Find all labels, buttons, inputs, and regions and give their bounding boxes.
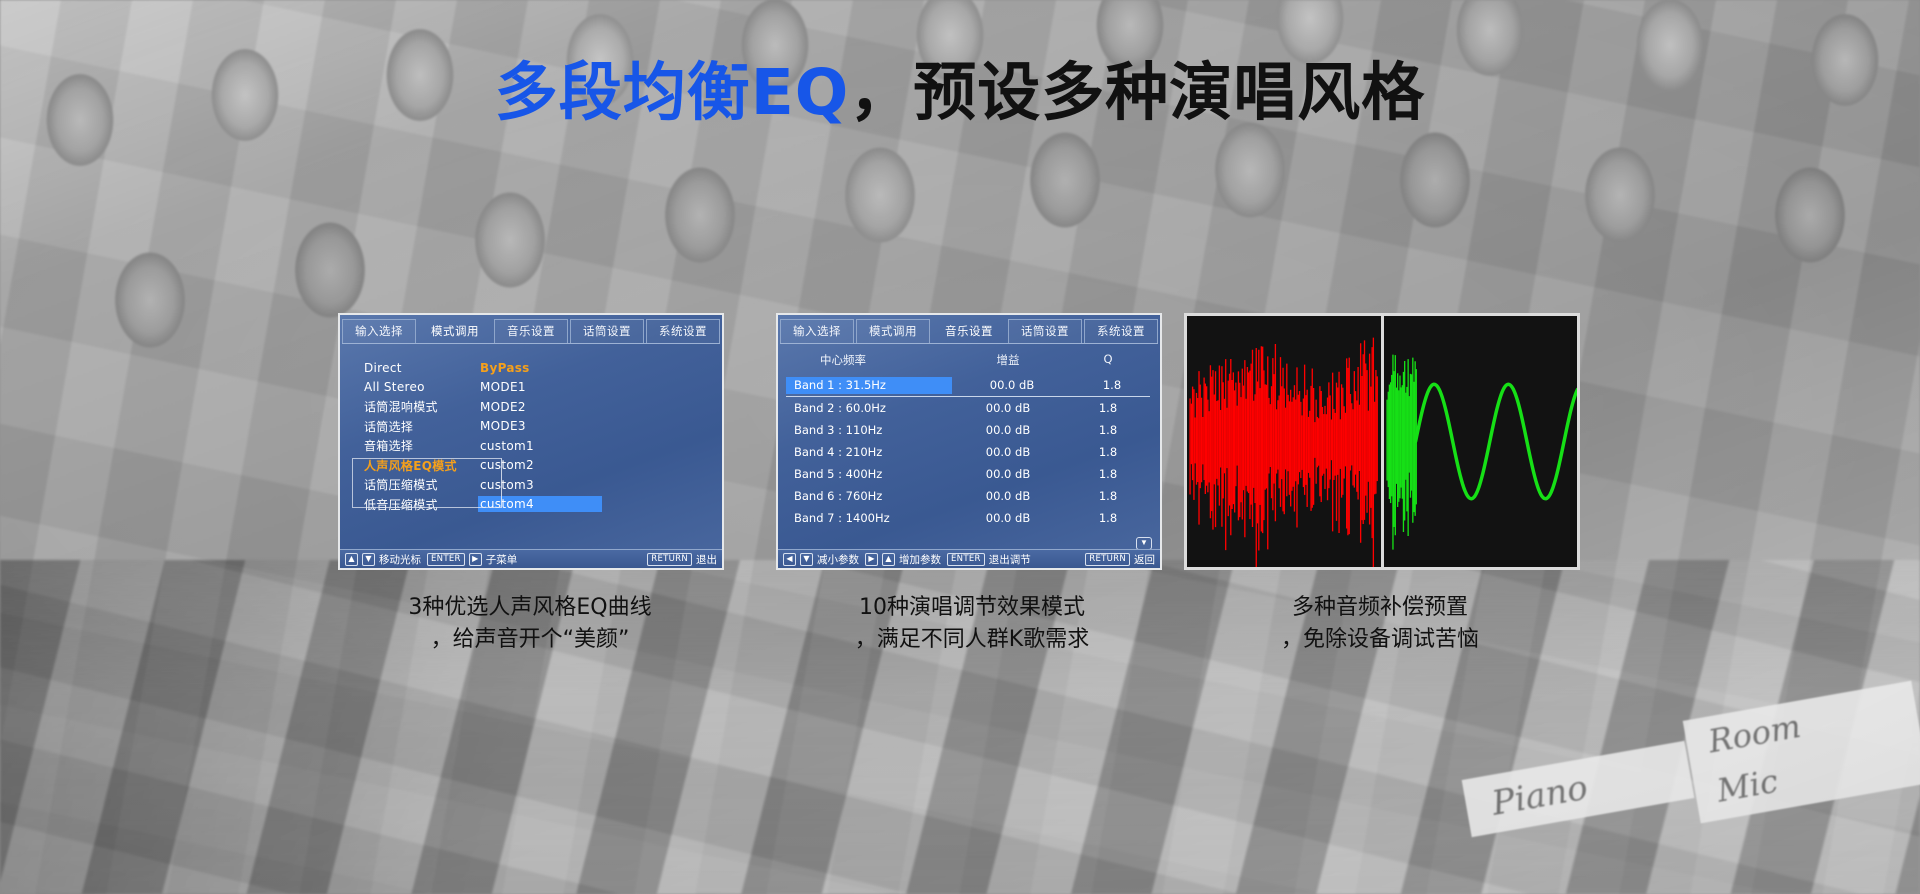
up-arrow-key: ▲ bbox=[882, 553, 895, 566]
hint-label: 增加参数 bbox=[899, 552, 941, 567]
music-settings-tab-2[interactable]: 音乐设置 bbox=[932, 319, 1006, 343]
eq-band-row[interactable]: Band 2 : 60.0Hz00.0 dB1.8 bbox=[778, 397, 1160, 419]
lcd-panel-music-settings: 输入选择模式调用音乐设置话筒设置系统设置 中心频率 增益 Q Band 1 : … bbox=[776, 313, 1162, 570]
up-arrow-key: ▲ bbox=[345, 553, 358, 566]
eq-band-q: 1.8 bbox=[1068, 511, 1148, 525]
mode-row[interactable]: 话筒选择MODE3 bbox=[340, 417, 722, 437]
eq-band-table: 中心频率 增益 Q Band 1 : 31.5Hz00.0 dB1.8Band … bbox=[778, 344, 1160, 554]
tab-label: 输入选择 bbox=[793, 324, 841, 338]
mode-row-value-selected[interactable]: custom4 bbox=[478, 496, 602, 512]
panels-row: 输入选择模式调用音乐设置话筒设置系统设置 DirectByPassAll Ste… bbox=[0, 313, 1920, 573]
music-settings-tab-4[interactable]: 系统设置 bbox=[1084, 319, 1158, 343]
mode-row[interactable]: 人声风格EQ模式custom2 bbox=[340, 456, 722, 476]
mode-row-label: 人声风格EQ模式 bbox=[340, 457, 480, 474]
tabbar-music-settings: 输入选择模式调用音乐设置话筒设置系统设置 bbox=[778, 315, 1160, 343]
music-settings-tab-3[interactable]: 话筒设置 bbox=[1008, 319, 1082, 343]
eq-header-gain: 增益 bbox=[948, 352, 1068, 368]
eq-band-q: 1.8 bbox=[1068, 423, 1148, 437]
caption-3: 多种音频补偿预置 ，免除设备调试苦恼 bbox=[1150, 592, 1610, 656]
page-title-rest: ，预设多种演唱风格 bbox=[849, 56, 1425, 129]
eq-band-gain: 00.0 dB bbox=[948, 511, 1068, 525]
tab-label: 输入选择 bbox=[355, 324, 403, 338]
tab-label: 音乐设置 bbox=[507, 324, 555, 338]
slide-root: Piano RoomMic 多段均衡EQ，预设多种演唱风格 输入选择模式调用音乐… bbox=[0, 0, 1920, 894]
enter-key: ENTER bbox=[427, 553, 465, 566]
eq-band-row[interactable]: Band 1 : 31.5Hz00.0 dB1.8 bbox=[778, 374, 1160, 396]
hint-item: ▲▼移动光标 bbox=[345, 552, 421, 567]
mode-row-value[interactable]: custom3 bbox=[480, 478, 630, 492]
mode-row[interactable]: 话筒混响模式MODE2 bbox=[340, 397, 722, 417]
tab-label: 音乐设置 bbox=[945, 324, 993, 338]
eq-band-frequency: Band 2 : 60.0Hz bbox=[778, 401, 948, 415]
eq-band-row[interactable]: Band 6 : 760Hz00.0 dB1.8 bbox=[778, 485, 1160, 507]
hint-label: 移动光标 bbox=[379, 552, 421, 567]
mode-row[interactable]: All StereoMODE1 bbox=[340, 378, 722, 398]
eq-rows-container: Band 1 : 31.5Hz00.0 dB1.8Band 2 : 60.0Hz… bbox=[778, 374, 1160, 529]
eq-band-frequency: Band 4 : 210Hz bbox=[778, 445, 948, 459]
eq-band-row[interactable]: Band 7 : 1400Hz00.0 dB1.8 bbox=[778, 507, 1160, 529]
mode-row-label: 音箱选择 bbox=[340, 437, 480, 454]
hint-label: 退出调节 bbox=[989, 552, 1031, 567]
mode-row-label: 话筒压缩模式 bbox=[340, 476, 480, 493]
eq-band-gain: 00.0 dB bbox=[948, 467, 1068, 481]
eq-band-q: 1.8 bbox=[1068, 445, 1148, 459]
tabbar-mode-recall: 输入选择模式调用音乐设置话筒设置系统设置 bbox=[340, 315, 722, 343]
mode-row-value[interactable]: MODE1 bbox=[480, 380, 630, 394]
hintbar-music-settings: ◀▼减小参数▶▲增加参数ENTER退出调节RETURN返回 bbox=[778, 549, 1160, 568]
tab-label: 系统设置 bbox=[1097, 324, 1145, 338]
mode-row-value[interactable]: custom1 bbox=[480, 439, 630, 453]
mode-recall-tab-0[interactable]: 输入选择 bbox=[342, 319, 416, 343]
eq-band-gain: 00.0 dB bbox=[948, 401, 1068, 415]
return-key: RETURN bbox=[1085, 553, 1130, 566]
mode-recall-tab-4[interactable]: 系统设置 bbox=[646, 319, 720, 343]
mode-row[interactable]: 低音压缩模式custom4 bbox=[340, 495, 722, 515]
hint-item: ▶▲增加参数 bbox=[865, 552, 941, 567]
eq-band-row[interactable]: Band 3 : 110Hz00.0 dB1.8 bbox=[778, 419, 1160, 441]
eq-band-gain: 00.0 dB bbox=[952, 378, 1072, 392]
eq-band-q: 1.8 bbox=[1068, 489, 1148, 503]
mode-row-value[interactable]: MODE3 bbox=[480, 419, 630, 433]
sine-waveform-green bbox=[1381, 316, 1578, 567]
eq-band-frequency: Band 1 : 31.5Hz bbox=[786, 377, 952, 394]
caption-2: 10种演唱调节效果模式 ，满足不同人群K歌需求 bbox=[742, 592, 1202, 656]
tab-label: 模式调用 bbox=[431, 324, 479, 338]
eq-band-row[interactable]: Band 4 : 210Hz00.0 dB1.8 bbox=[778, 441, 1160, 463]
mode-row-label: 低音压缩模式 bbox=[340, 496, 480, 513]
eq-header-q: Q bbox=[1068, 352, 1148, 368]
mode-row-value[interactable]: custom2 bbox=[480, 458, 630, 472]
tab-label: 系统设置 bbox=[659, 324, 707, 338]
eq-band-gain: 00.0 dB bbox=[948, 489, 1068, 503]
eq-band-frequency: Band 7 : 1400Hz bbox=[778, 511, 948, 525]
right-arrow-key: ▶ bbox=[865, 553, 878, 566]
hint-item: RETURN退出 bbox=[647, 552, 717, 567]
enter-key: ENTER bbox=[947, 553, 985, 566]
hint-label: 退出 bbox=[696, 552, 717, 567]
mode-row[interactable]: 话筒压缩模式custom3 bbox=[340, 475, 722, 495]
eq-band-gain: 00.0 dB bbox=[948, 445, 1068, 459]
hintbar-mode-recall: ▲▼移动光标ENTER▶子菜单RETURN退出 bbox=[340, 549, 722, 568]
page-title-highlight: 多段均衡EQ bbox=[495, 56, 850, 129]
eq-band-frequency: Band 3 : 110Hz bbox=[778, 423, 948, 437]
mode-recall-tab-2[interactable]: 音乐设置 bbox=[494, 319, 568, 343]
eq-band-frequency: Band 6 : 760Hz bbox=[778, 489, 948, 503]
caption-1: 3种优选人声风格EQ曲线 ，给声音开个“美颜” bbox=[300, 592, 760, 656]
return-key: RETURN bbox=[647, 553, 692, 566]
eq-band-row[interactable]: Band 5 : 400Hz00.0 dB1.8 bbox=[778, 463, 1160, 485]
noise-waveform-red bbox=[1187, 316, 1381, 567]
hint-item: RETURN返回 bbox=[1085, 552, 1155, 567]
mode-row-label: 话筒选择 bbox=[340, 418, 480, 435]
mode-row-label: All Stereo bbox=[340, 380, 480, 394]
music-settings-tab-1[interactable]: 模式调用 bbox=[856, 319, 930, 343]
eq-band-gain: 00.0 dB bbox=[948, 423, 1068, 437]
left-arrow-key: ◀ bbox=[783, 553, 796, 566]
hint-label: 返回 bbox=[1134, 552, 1155, 567]
down-arrow-key: ▼ bbox=[362, 553, 375, 566]
tab-label: 话筒设置 bbox=[583, 324, 631, 338]
tab-label: 话筒设置 bbox=[1021, 324, 1069, 338]
mode-row[interactable]: 音箱选择custom1 bbox=[340, 436, 722, 456]
eq-band-frequency: Band 5 : 400Hz bbox=[778, 467, 948, 481]
eq-table-header: 中心频率 增益 Q bbox=[778, 352, 1160, 374]
hint-item: ENTER退出调节 bbox=[947, 552, 1031, 567]
eq-band-q: 1.8 bbox=[1068, 467, 1148, 481]
waveform-display-panel bbox=[1184, 313, 1580, 570]
hint-label: 减小参数 bbox=[817, 552, 859, 567]
mode-recall-tab-1[interactable]: 模式调用 bbox=[418, 319, 492, 343]
tab-label: 模式调用 bbox=[869, 324, 917, 338]
mode-row-value[interactable]: MODE2 bbox=[480, 400, 630, 414]
down-arrow-key: ▼ bbox=[800, 553, 813, 566]
mode-recall-tab-3[interactable]: 话筒设置 bbox=[570, 319, 644, 343]
eq-band-q: 1.8 bbox=[1068, 401, 1148, 415]
mode-row-label: Direct bbox=[340, 361, 480, 375]
page-title: 多段均衡EQ，预设多种演唱风格 bbox=[0, 42, 1920, 133]
eq-band-q: 1.8 bbox=[1072, 378, 1152, 392]
mode-row-value[interactable]: ByPass bbox=[480, 361, 630, 375]
music-settings-tab-0[interactable]: 输入选择 bbox=[780, 319, 854, 343]
mode-row-label: 话筒混响模式 bbox=[340, 398, 480, 415]
hint-label: 子菜单 bbox=[486, 552, 518, 567]
right-arrow-key: ▶ bbox=[469, 553, 482, 566]
mode-row[interactable]: DirectByPass bbox=[340, 358, 722, 378]
hint-item: ENTER▶子菜单 bbox=[427, 552, 517, 567]
green-sine-waveform-graphic bbox=[1384, 316, 1578, 567]
mode-rows-container: DirectByPassAll StereoMODE1话筒混响模式MODE2话筒… bbox=[340, 344, 722, 554]
red-noise-waveform-graphic bbox=[1187, 316, 1381, 567]
lcd-panel-mode-recall: 输入选择模式调用音乐设置话筒设置系统设置 DirectByPassAll Ste… bbox=[338, 313, 724, 570]
hint-item: ◀▼减小参数 bbox=[783, 552, 859, 567]
eq-header-frequency: 中心频率 bbox=[778, 352, 948, 368]
